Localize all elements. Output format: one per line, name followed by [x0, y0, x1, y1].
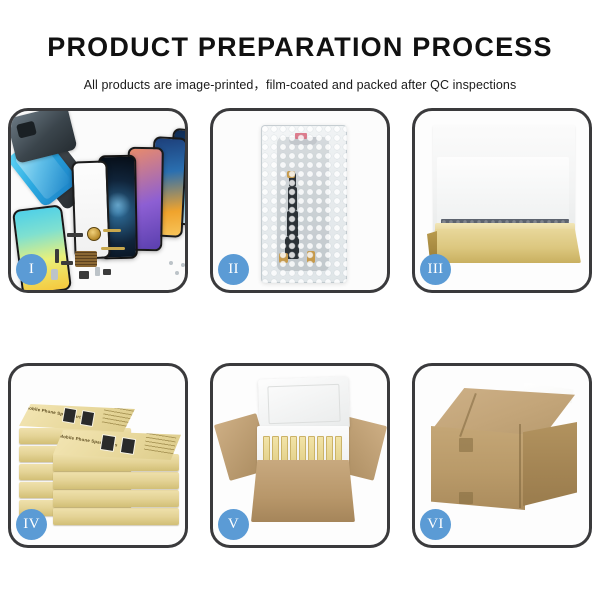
- panel-step-1: I: [8, 108, 188, 293]
- panel-step-2: II: [210, 108, 390, 293]
- spare-part: [67, 233, 83, 237]
- carton-side-face: [523, 422, 577, 506]
- step-badge-6: VI: [420, 509, 451, 540]
- step-badge-5: V: [218, 509, 249, 540]
- carton-body: [251, 460, 355, 522]
- process-step-grid: I II: [8, 108, 592, 548]
- preparation-process-infographic: PRODUCT PREPARATION PROCESS All products…: [0, 0, 600, 600]
- spare-part: [55, 249, 59, 263]
- panel-step-6: VI: [412, 363, 592, 548]
- spare-part: [61, 261, 73, 265]
- page-title: PRODUCT PREPARATION PROCESS: [0, 0, 600, 61]
- carton-tab: [459, 492, 473, 504]
- foam-lid: [258, 376, 350, 431]
- phone-display-1: [71, 160, 110, 259]
- step-badge-2: II: [218, 254, 249, 285]
- flex-cable-part: [103, 229, 121, 232]
- panel-step-4: Mobile Phone Spare Parts Mobile Phone Sp…: [8, 363, 188, 548]
- carton-front-face: [431, 426, 525, 510]
- step-badge-1: I: [16, 254, 47, 285]
- panel-step-5: V: [210, 363, 390, 548]
- kraft-box-body: [429, 229, 581, 263]
- ic-chip-part: [75, 251, 97, 267]
- bubble-wrap-package: [261, 125, 347, 283]
- bubble-texture: [261, 125, 347, 283]
- spare-part: [51, 269, 58, 280]
- panel-step-3: III: [412, 108, 592, 293]
- carton-tab: [459, 438, 473, 452]
- spare-part: [79, 271, 89, 279]
- page-subtitle: All products are image-printed，film-coat…: [0, 61, 600, 93]
- speaker-part-icon: [87, 227, 101, 241]
- header: PRODUCT PREPARATION PROCESS All products…: [0, 0, 600, 93]
- box-stack: Mobile Phone Spare Parts Mobile Phone Sp…: [17, 382, 185, 532]
- spare-part: [95, 267, 100, 276]
- step-badge-3: III: [420, 254, 451, 285]
- screw-part: [175, 271, 179, 275]
- spare-part: [103, 269, 111, 275]
- screw-part: [169, 261, 173, 265]
- screw-part: [181, 263, 185, 267]
- step-badge-4: IV: [16, 509, 47, 540]
- flex-cable-part: [101, 247, 125, 250]
- carton-seam: [519, 424, 521, 508]
